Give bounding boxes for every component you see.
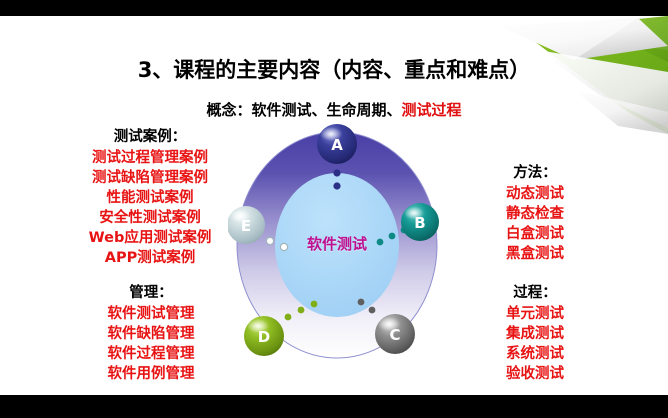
block-line: 性能测试案例 xyxy=(50,188,250,208)
block-line: 系统测试 xyxy=(440,344,630,364)
block-line: 测试缺陷管理案例 xyxy=(50,168,250,188)
block-heading: 测试案例： xyxy=(50,128,250,147)
slide-canvas: 3、课程的主要内容（内容、重点和难点） 概念：软件测试、生命周期、测试过程 测试… xyxy=(0,16,668,395)
diagram-node-a[interactable]: A xyxy=(317,124,357,164)
block-line: 集成测试 xyxy=(440,324,630,344)
slide-subtitle: 概念：软件测试、生命周期、测试过程 xyxy=(0,99,668,120)
block-line: 测试过程管理案例 xyxy=(50,148,250,168)
node-label: D xyxy=(258,328,270,346)
block-line: 安全性测试案例 xyxy=(50,208,250,228)
block-heading: 方法： xyxy=(440,164,630,183)
text-block-management: 管理： 软件测试管理 软件缺陷管理 软件过程管理 软件用例管理 xyxy=(56,284,246,384)
block-line: 静态检查 xyxy=(440,204,630,224)
block-line: 黑盒测试 xyxy=(440,244,630,264)
slide-title: 3、课程的主要内容（内容、重点和难点） xyxy=(0,54,668,84)
block-line: 验收测试 xyxy=(440,364,630,384)
block-line: APP测试案例 xyxy=(50,248,250,268)
diagram-node-d[interactable]: D xyxy=(244,316,284,356)
block-line: 动态测试 xyxy=(440,184,630,204)
letterbox-bar-bottom xyxy=(0,395,668,418)
circular-diagram: A B C D xyxy=(228,122,446,368)
block-heading: 过程： xyxy=(440,284,630,303)
text-block-test-cases: 测试案例： 测试过程管理案例 测试缺陷管理案例 性能测试案例 安全性测试案例 W… xyxy=(50,128,250,268)
block-line: 白盒测试 xyxy=(440,224,630,244)
diagram-center-label: 软件测试 xyxy=(228,233,446,254)
block-line: 软件测试管理 xyxy=(56,304,246,324)
node-label: B xyxy=(414,214,425,232)
block-line: 软件用例管理 xyxy=(56,364,246,384)
block-heading: 管理： xyxy=(56,284,246,303)
block-line: 软件过程管理 xyxy=(56,344,246,364)
node-label: C xyxy=(389,326,400,344)
diagram-node-c[interactable]: C xyxy=(375,314,415,354)
subtitle-accent: 测试过程 xyxy=(402,101,462,119)
block-line: 单元测试 xyxy=(440,304,630,324)
subtitle-prefix: 概念：软件测试、生命周期、 xyxy=(206,101,401,119)
text-block-process: 过程： 单元测试 集成测试 系统测试 验收测试 xyxy=(440,284,630,384)
letterbox-bar-top xyxy=(0,0,668,16)
text-block-methods: 方法： 动态测试 静态检查 白盒测试 黑盒测试 xyxy=(440,164,630,264)
block-line: 软件缺陷管理 xyxy=(56,324,246,344)
slide-root: 3、课程的主要内容（内容、重点和难点） 概念：软件测试、生命周期、测试过程 测试… xyxy=(0,0,668,418)
block-line: Web应用测试案例 xyxy=(50,228,250,248)
node-label: A xyxy=(331,136,343,154)
